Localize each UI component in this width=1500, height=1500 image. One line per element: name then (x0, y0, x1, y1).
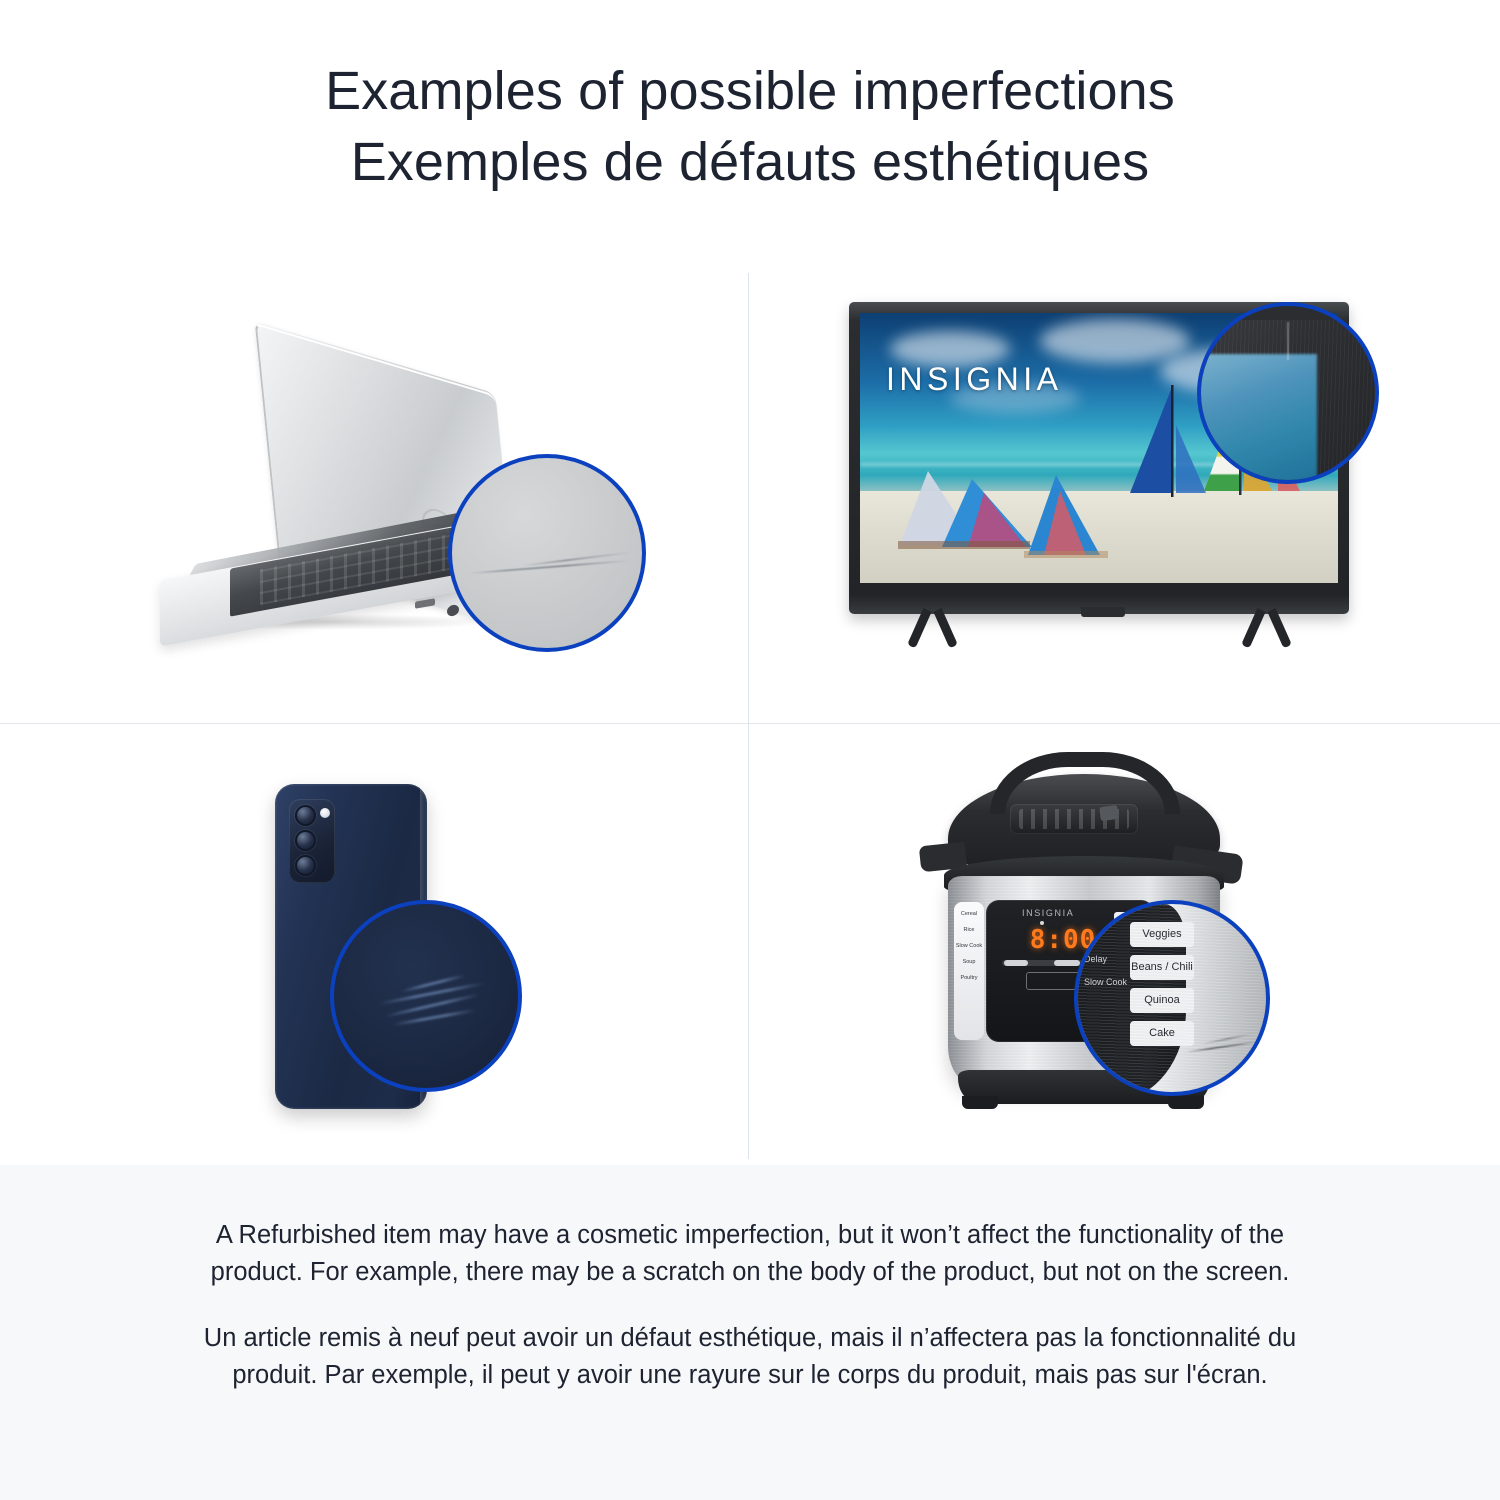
pressure-cooker-illustration: Cereal Rice Slow Cook Soup Poultry INSIG… (914, 752, 1274, 1142)
cloud-shape (1040, 319, 1190, 363)
cooker-zoom-button: Veggies (1130, 922, 1194, 947)
example-cell-pressure-cooker: Cereal Rice Slow Cook Soup Poultry INSIG… (749, 724, 1500, 1165)
tv-brand-nub (1081, 607, 1125, 617)
cooker-zoom-side-label: Delay (1084, 948, 1128, 971)
camera-module (289, 799, 335, 883)
tv-leg-part (1241, 608, 1265, 648)
cooker-left-button-label: Cereal (954, 902, 984, 918)
title-line-en: Examples of possible imperfections (0, 56, 1500, 127)
cooker-left-button-strip[interactable]: Cereal Rice Slow Cook Soup Poultry (954, 902, 984, 1040)
example-cell-laptop (0, 267, 748, 723)
cooker-zoom-button: Beans / Chili (1130, 955, 1194, 980)
refurbished-imperfections-infographic: Examples of possible imperfections Exemp… (0, 0, 1500, 1500)
title-line-fr: Exemples de défauts esthétiques (0, 127, 1500, 198)
description-text-en: A Refurbished item may have a cosmetic i… (180, 1217, 1320, 1290)
cooker-scratch-mark (1186, 1041, 1258, 1053)
tv-illustration: INSIGNIA (849, 302, 1379, 677)
description-text-fr: Un article remis à neuf peut avoir un dé… (180, 1320, 1320, 1393)
example-cell-phone (0, 724, 748, 1165)
cooker-left-button-label: Poultry (954, 966, 984, 982)
phone-illustration (275, 784, 475, 1124)
example-cell-tv: INSIGNIA (749, 267, 1500, 723)
phone-scratch-mark (385, 993, 479, 1018)
magnifier-circle-laptop (448, 454, 646, 652)
tv-leg-part (1267, 608, 1291, 648)
sailboat-pink-icon (1000, 471, 1120, 576)
magnifier-circle-phone (330, 900, 522, 1092)
cooker-zoom-button: Quinoa (1130, 988, 1194, 1013)
cooker-steam-valve-icon (1099, 805, 1119, 821)
description-panel: A Refurbished item may have a cosmetic i… (0, 1165, 1500, 1500)
cooker-zoom-side-labels: Delay Slow Cook (1084, 948, 1128, 995)
tv-leg-part (907, 608, 931, 648)
magnifier-circle-pressure-cooker: Delay Slow Cook Veggies Beans / Chili Qu… (1074, 900, 1270, 1096)
tv-leg-right (1227, 610, 1303, 652)
tv-leg-left (893, 610, 969, 652)
laptop-illustration (150, 362, 570, 662)
cooker-panel-zoom (1074, 904, 1186, 1096)
cooker-foot (1168, 1096, 1204, 1109)
cooker-foot (962, 1096, 998, 1109)
tv-leg-part (933, 608, 957, 648)
page-title: Examples of possible imperfections Exemp… (0, 56, 1500, 199)
magnifier-circle-tv (1197, 302, 1379, 484)
camera-lens-icon (295, 855, 316, 876)
cooker-zoom-button-column: Veggies Beans / Chili Quinoa Cake (1130, 922, 1194, 1054)
tv-screen-brand-logo: INSIGNIA (886, 361, 1062, 398)
cooker-left-button-label: Slow Cook (954, 934, 984, 950)
camera-flash-icon (320, 808, 330, 818)
cooker-lid-vent-panel (1010, 804, 1138, 834)
camera-lens-icon (295, 830, 316, 851)
tv-scratch-mark (1287, 322, 1289, 360)
examples-grid: INSIGNIA (0, 267, 1500, 1165)
camera-lens-icon (295, 805, 316, 826)
cooker-left-button-label: Rice (954, 918, 984, 934)
cooker-left-button-label: Soup (954, 950, 984, 966)
cooker-scratch-mark-secondary (1202, 1033, 1251, 1044)
cooker-zoom-button: Cake (1130, 1021, 1194, 1046)
cooker-zoom-side-label: Slow Cook (1084, 971, 1128, 994)
cooker-brand-label: INSIGNIA (1022, 908, 1074, 918)
